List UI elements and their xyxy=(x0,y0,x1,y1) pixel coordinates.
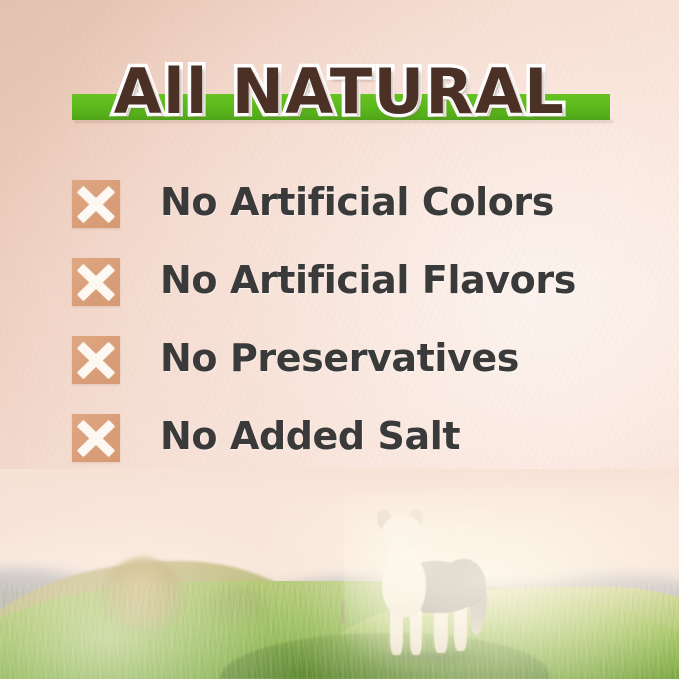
feature-list: No Artificial Colors No Artificial Flavo… xyxy=(72,178,632,490)
x-mark-icon xyxy=(72,414,120,462)
dog-border-collie xyxy=(358,509,498,659)
feature-label-no-preservatives: No Preservatives xyxy=(160,334,519,382)
page-title: All NATURAL xyxy=(0,46,679,138)
feature-label-no-added-salt: No Added Salt xyxy=(160,412,460,460)
grass-texture xyxy=(0,583,679,679)
all-natural-product-poster: All NATURAL No Artificial Colors No Arti… xyxy=(0,0,679,679)
list-item: No Preservatives xyxy=(72,334,632,412)
dog-muzzle xyxy=(390,535,410,553)
x-mark-icon xyxy=(72,336,120,384)
feature-label-no-artificial-flavors: No Artificial Flavors xyxy=(160,256,576,304)
list-item: No Artificial Colors xyxy=(72,178,632,256)
list-item: No Artificial Flavors xyxy=(72,256,632,334)
feature-label-no-artificial-colors: No Artificial Colors xyxy=(160,178,554,226)
header-banner: All NATURAL xyxy=(0,46,679,138)
landscape-photo xyxy=(0,469,679,679)
x-mark-icon xyxy=(72,258,120,306)
x-mark-icon xyxy=(72,180,120,228)
